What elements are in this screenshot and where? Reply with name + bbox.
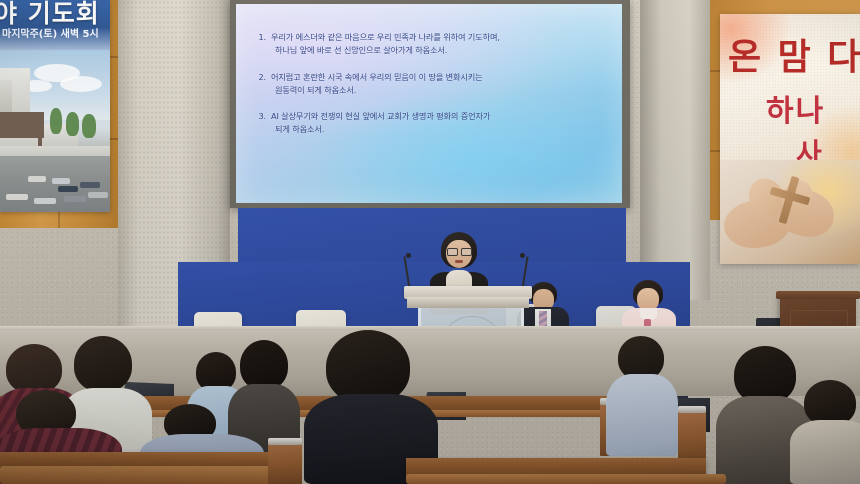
slide-item-number: 1. — [252, 31, 271, 58]
lectern-top — [776, 291, 860, 299]
banner-left: 야 기도회 마지막주(토) 새벽 5시 — [0, 0, 110, 212]
pew-hardware — [268, 438, 302, 445]
slide-item-text: 어지럽고 혼란한 시국 속에서 우리의 믿음이 이 땅을 변화시키는 원동력이 … — [271, 71, 608, 98]
banner-right-text-area: 온 맘 다 하나 사 — [720, 14, 860, 160]
speaker-glasses — [461, 248, 472, 256]
wall-column-right — [640, 0, 710, 300]
slide-item-text: AI 살상무기와 전쟁의 현실 앞에서 교회가 생명과 평화의 증언자가 되게 … — [271, 110, 608, 137]
microphone-head — [520, 253, 525, 258]
slide-item: 3. AI 살상무기와 전쟁의 현실 앞에서 교회가 생명과 평화의 증언자가 … — [252, 110, 608, 137]
microphone-head — [406, 253, 411, 258]
pew-hardware — [678, 406, 706, 413]
slide-line-1: 어지럽고 혼란한 시국 속에서 우리의 믿음이 이 땅을 변화시키는 — [271, 72, 483, 82]
pew-rail — [406, 474, 726, 484]
banner-left-subtitle: 마지막주(토) 새벽 5시 — [2, 25, 110, 40]
slide-item: 2. 어지럽고 혼란한 시국 속에서 우리의 믿음이 이 땅을 변화시키는 원동… — [252, 71, 608, 98]
slide-line-2: 원동력이 되게 하옵소서. — [271, 84, 608, 97]
slide-content: 1. 우리가 에스더와 같은 마음으로 우리 민족과 나라를 위하여 기도하며,… — [252, 31, 608, 150]
projection-screen: 1. 우리가 에스더와 같은 마음으로 우리 민족과 나라를 위하여 기도하며,… — [236, 4, 622, 203]
congregant — [606, 336, 676, 456]
banner-left-rendering — [0, 50, 110, 212]
congregant — [790, 380, 860, 484]
slide-line-1: 우리가 에스더와 같은 마음으로 우리 민족과 나라를 위하여 기도하며, — [271, 32, 500, 42]
slide-line-2: 하나님 앞에 바로 선 신앙인으로 살아가게 하옵소서. — [271, 44, 608, 57]
banner-left-header: 야 기도회 마지막주(토) 새벽 5시 — [0, 0, 110, 50]
slide-line-1: AI 살상무기와 전쟁의 현실 앞에서 교회가 생명과 평화의 증언자가 — [271, 111, 490, 121]
speaker-mouth — [455, 260, 463, 263]
banner-right-line2: 하나 — [766, 86, 825, 130]
slide-item-number: 3. — [252, 110, 271, 137]
slide-item-number: 2. — [252, 71, 271, 98]
banner-right: 온 맘 다 하나 사 — [720, 14, 860, 264]
hands-cross-image — [720, 160, 860, 264]
pew-end — [268, 440, 302, 484]
pew-rail — [0, 466, 300, 484]
slide-item: 1. 우리가 에스더와 같은 마음으로 우리 민족과 나라를 위하여 기도하며,… — [252, 31, 608, 58]
banner-right-line1: 온 맘 다 — [728, 28, 860, 80]
pulpit-desk — [407, 297, 529, 308]
speaker-glasses — [447, 248, 458, 256]
sanctuary-photo: 야 기도회 마지막주(토) 새벽 5시 — [0, 0, 860, 484]
slide-item-text: 우리가 에스더와 같은 마음으로 우리 민족과 나라를 위하여 기도하며, 하나… — [271, 31, 608, 58]
slide-line-2: 되게 하옵소서. — [271, 123, 608, 136]
